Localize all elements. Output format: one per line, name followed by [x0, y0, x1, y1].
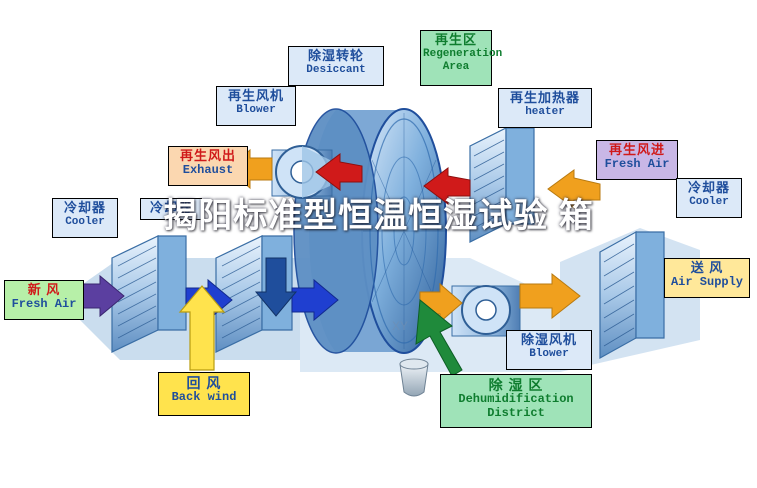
label-cn-text: 再生风进 — [599, 143, 675, 158]
label-cn-text: 再生区 — [423, 33, 489, 48]
label-en-text: Regeneration Area — [423, 48, 489, 73]
label-cn-text: 再生风机 — [219, 89, 293, 104]
label-cn-text: 除湿转轮 — [291, 49, 381, 64]
label-en-text: heater — [501, 106, 589, 119]
page-title: 揭阳标准型恒温恒湿试验 箱 — [0, 196, 757, 236]
label-back-wind: 回 风Back wind — [158, 372, 250, 416]
label-en-text: Blower — [509, 348, 589, 361]
diagram-canvas: XY 除湿转轮Desiccant 再生区Regeneration Area 再生… — [0, 0, 757, 488]
label-en-text: Desiccant — [291, 64, 381, 77]
drain-cup — [400, 359, 428, 396]
label-regeneration-blower: 再生风机Blower — [216, 86, 296, 126]
label-desiccant: 除湿转轮Desiccant — [288, 46, 384, 86]
watermark-text: XY — [392, 319, 408, 333]
label-en-text: Air Supply — [667, 276, 747, 290]
dehumidification-blower-unit — [452, 286, 520, 336]
label-air-supply: 送 风Air Supply — [664, 258, 750, 298]
label-en-text: Blower — [219, 104, 293, 117]
label-cn-text: 除 湿 区 — [443, 377, 589, 393]
label-en-text: Fresh Air — [599, 158, 675, 172]
label-fresh-air: 新 风Fresh Air — [4, 280, 84, 320]
label-en-text: Dehumidification District — [443, 393, 589, 421]
label-regeneration-exhaust: 再生风出Exhaust — [168, 146, 248, 186]
label-dehumidification-blower: 除湿风机Blower — [506, 330, 592, 370]
label-en-text: Back wind — [161, 391, 247, 405]
label-cn-text: 送 风 — [667, 261, 747, 276]
label-cn-text: 再生风出 — [171, 149, 245, 164]
label-regeneration-heater: 再生加热器heater — [498, 88, 592, 128]
label-cn-text: 新 风 — [7, 283, 81, 298]
label-en-text: Fresh Air — [7, 298, 81, 312]
label-cn-text: 除湿风机 — [509, 333, 589, 348]
label-cn-text: 再生加热器 — [501, 91, 589, 106]
label-dehumidification-district: 除 湿 区Dehumidification District — [440, 374, 592, 428]
label-en-text: Exhaust — [171, 164, 245, 178]
label-regeneration-fresh-air: 再生风进Fresh Air — [596, 140, 678, 180]
page-title-line1: 揭阳标准型恒温恒湿试验 — [163, 197, 548, 235]
label-cn-text: 冷却器 — [679, 181, 739, 196]
label-cn-text: 回 风 — [161, 375, 247, 391]
label-regeneration-area: 再生区Regeneration Area — [420, 30, 492, 86]
page-title-line2: 箱 — [559, 197, 594, 235]
